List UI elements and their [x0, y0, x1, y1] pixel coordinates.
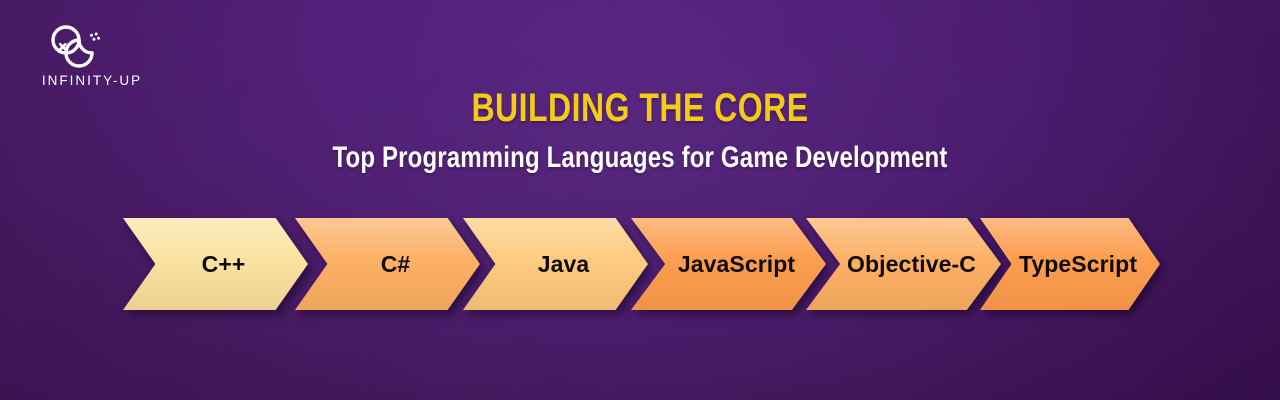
language-chevron[interactable]: C++: [123, 218, 308, 310]
infinity-gamepad-icon: [36, 22, 120, 70]
language-chevron[interactable]: Objective-C: [806, 218, 1001, 310]
page-title: BUILDING THE CORE: [128, 88, 1152, 129]
language-chevron[interactable]: JavaScript: [631, 218, 826, 310]
language-label: Objective-C: [831, 251, 976, 278]
language-label: TypeScript: [1003, 251, 1137, 278]
promo-banner: INFINITY-UP BUILDING THE CORE Top Progra…: [0, 0, 1280, 400]
language-label: Java: [522, 251, 590, 278]
language-chevron[interactable]: Java: [463, 218, 648, 310]
language-chevron[interactable]: TypeScript: [980, 218, 1160, 310]
page-subtitle: Top Programming Languages for Game Devel…: [128, 142, 1152, 174]
brand-wordmark: INFINITY-UP: [22, 73, 162, 88]
headings: BUILDING THE CORE Top Programming Langua…: [0, 88, 1280, 173]
language-label: C#: [365, 251, 411, 278]
language-label: C++: [186, 251, 246, 278]
brand-logo: INFINITY-UP: [22, 22, 162, 88]
language-chevron[interactable]: C#: [295, 218, 480, 310]
language-label: JavaScript: [662, 251, 795, 278]
language-chevron-row: C++C#JavaJavaScriptObjective-CTypeScript: [0, 218, 1280, 318]
